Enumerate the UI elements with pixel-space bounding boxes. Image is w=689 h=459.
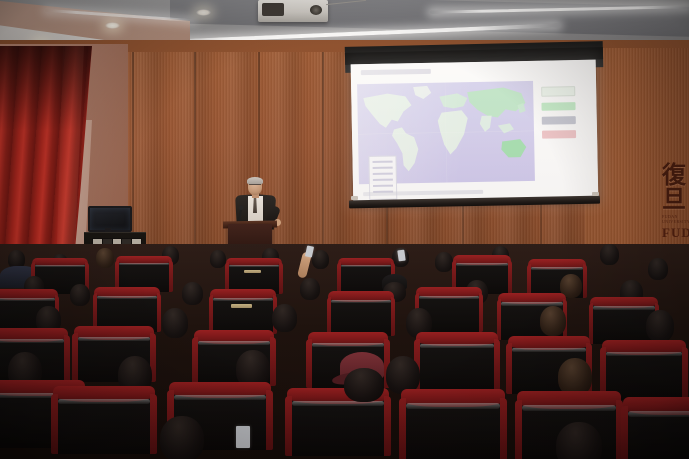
theater-seat[interactable] (212, 292, 274, 334)
theater-seat[interactable] (330, 294, 392, 336)
legend-swatch (542, 116, 576, 125)
audience-head (344, 368, 384, 402)
fudan-university-logo: 復旦 FUDAN UNIVERSITY FUD (662, 163, 689, 221)
theater-seat[interactable] (626, 402, 689, 459)
audience-head (435, 252, 453, 272)
audience-seating (0, 244, 689, 459)
audience-head (162, 308, 188, 338)
audience-head (96, 248, 114, 268)
fudan-latin-mark: FUD (662, 225, 689, 241)
audience-head (558, 358, 592, 396)
theater-seat[interactable] (418, 336, 496, 390)
audience-head (386, 356, 420, 394)
recessed-downlight (105, 22, 120, 29)
screen-hem-knob (351, 196, 358, 200)
audience-head (648, 258, 668, 280)
glasses-icon (249, 184, 261, 188)
ceiling-projector (258, 0, 328, 22)
audience-head (312, 250, 329, 269)
theater-seat[interactable] (56, 390, 152, 454)
recessed-downlight (196, 9, 211, 16)
audience-head (70, 284, 90, 306)
legend-swatch (541, 86, 575, 97)
slide-title-bar (361, 69, 431, 75)
audience-head (272, 304, 297, 332)
audience-head (646, 310, 674, 342)
smartphone (397, 250, 405, 262)
audience-head (600, 244, 619, 265)
control-monitor[interactable] (88, 206, 128, 232)
legend-swatch (541, 102, 575, 111)
fudan-subtitle: FUDAN UNIVERSITY (662, 214, 689, 224)
audience-head (160, 416, 204, 459)
world-map-chart (357, 81, 535, 184)
theater-seat[interactable] (404, 394, 502, 459)
audience-head (300, 278, 320, 300)
presentation-slide (351, 60, 599, 205)
audience-head (182, 282, 203, 305)
smartphone (236, 426, 250, 448)
lecture-hall-photo: 復旦 FUDAN UNIVERSITY FUD (0, 0, 689, 459)
theater-seat[interactable] (290, 392, 386, 456)
screen-hem-knob (592, 192, 599, 196)
audience-head (210, 250, 226, 268)
audience-head (556, 422, 602, 459)
fudan-chinese-mark: 復旦 (662, 163, 689, 211)
legend-swatch (542, 130, 576, 139)
audience-head (540, 306, 566, 336)
projection-screen[interactable] (351, 60, 599, 205)
chart-legend (541, 86, 576, 145)
